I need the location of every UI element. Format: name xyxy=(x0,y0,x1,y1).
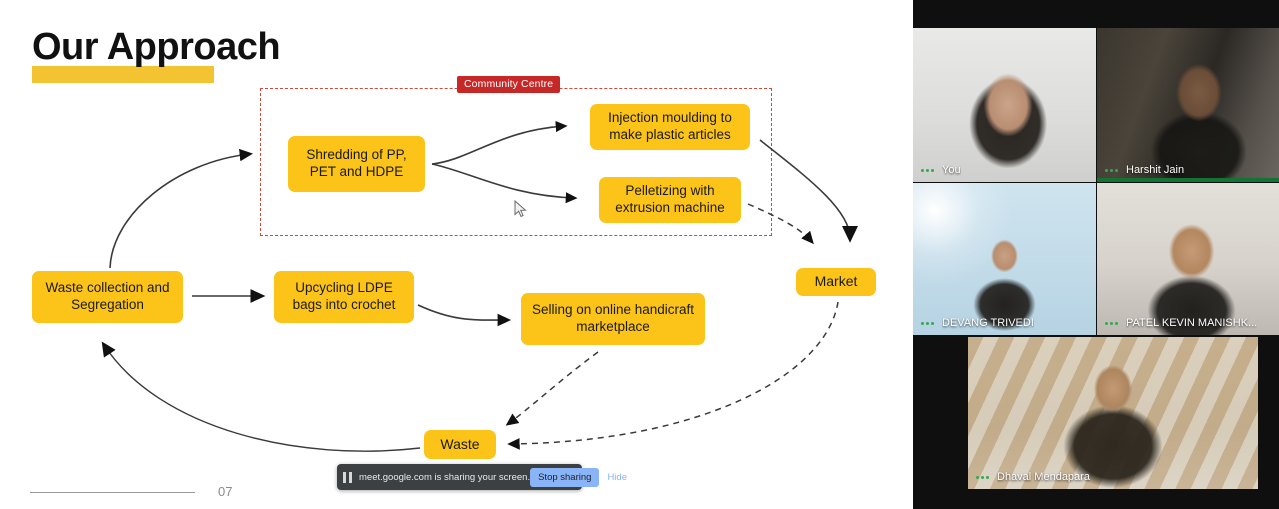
participant-video-harshit-jain xyxy=(1097,28,1279,182)
speaking-indicator xyxy=(1097,178,1279,182)
node-shredding: Shredding of PP, PET and HDPE xyxy=(288,136,425,192)
mic-activity-icon xyxy=(1105,169,1118,172)
participant-label: Dhaval Mendapara xyxy=(968,467,1258,489)
meeting-participants-panel: You Harshit Jain DEVANG TRIVEDI PATEL KE… xyxy=(913,0,1279,509)
page-title: Our Approach xyxy=(32,28,280,66)
mic-activity-icon xyxy=(921,169,934,172)
participant-name: Dhaval Mendapara xyxy=(997,471,1090,483)
participant-tile-patel-kevin[interactable]: PATEL KEVIN MANISHK... xyxy=(1097,183,1279,335)
title-highlight-bar xyxy=(32,66,214,83)
participant-label: PATEL KEVIN MANISHK... xyxy=(1097,313,1279,335)
participant-name: Harshit Jain xyxy=(1126,164,1184,176)
mouse-cursor-icon xyxy=(514,200,528,218)
mic-activity-icon xyxy=(921,322,934,325)
page-number: 07 xyxy=(218,484,232,499)
participant-label: You xyxy=(913,160,1096,182)
share-status-text: meet.google.com is sharing your screen. xyxy=(359,472,530,483)
participant-video-you xyxy=(913,28,1096,182)
participant-tile-devang-trivedi[interactable]: DEVANG TRIVEDI xyxy=(913,183,1096,335)
node-pelletizing: Pelletizing with extrusion machine xyxy=(599,177,741,223)
presentation-slide: Our Approach Community Centre xyxy=(0,0,913,509)
node-injection-moulding: Injection moulding to make plastic artic… xyxy=(590,104,750,150)
node-waste-collection: Waste collection and Segregation xyxy=(32,271,183,323)
node-market: Market xyxy=(796,268,876,296)
pause-icon xyxy=(343,472,352,483)
participant-label: DEVANG TRIVEDI xyxy=(913,313,1096,335)
participant-name: DEVANG TRIVEDI xyxy=(942,317,1034,329)
node-waste: Waste xyxy=(424,430,496,459)
participant-tile-dhaval-mendapara[interactable]: Dhaval Mendapara xyxy=(968,337,1258,489)
stop-sharing-button[interactable]: Stop sharing xyxy=(530,468,599,487)
screen-share-notification-bar[interactable]: meet.google.com is sharing your screen. … xyxy=(337,464,582,490)
community-centre-label: Community Centre xyxy=(457,76,560,93)
node-upcycling-ldpe: Upcycling LDPE bags into crochet xyxy=(274,271,414,323)
participant-name: You xyxy=(942,164,961,176)
participant-tile-harshit-jain[interactable]: Harshit Jain xyxy=(1097,28,1279,182)
node-selling-online: Selling on online handicraft marketplace xyxy=(521,293,705,345)
mic-activity-icon xyxy=(1105,322,1118,325)
hide-button[interactable]: Hide xyxy=(607,472,630,483)
slide-title-block: Our Approach xyxy=(32,28,280,66)
mic-activity-icon xyxy=(976,476,989,479)
participant-tile-you[interactable]: You xyxy=(913,28,1096,182)
participant-name: PATEL KEVIN MANISHK... xyxy=(1126,317,1257,329)
footer-divider xyxy=(30,492,195,493)
